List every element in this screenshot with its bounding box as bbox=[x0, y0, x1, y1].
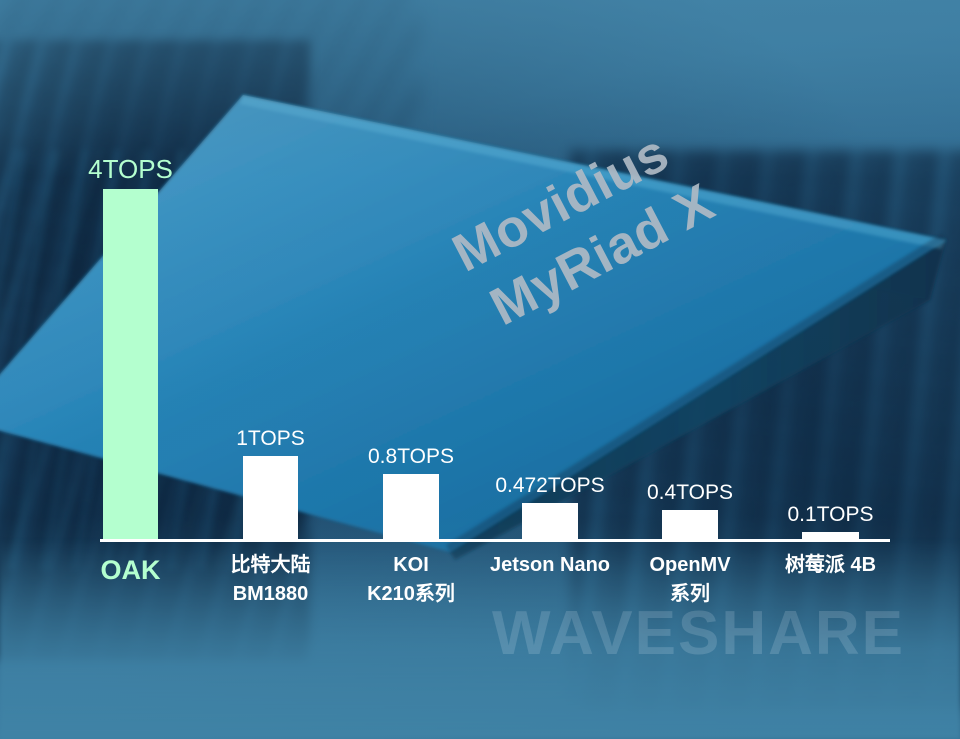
bar-oak bbox=[103, 189, 158, 539]
bar-koi-k210 bbox=[383, 474, 439, 539]
bar-raspberry-pi-4b bbox=[802, 532, 859, 539]
category-label-line: 树莓派 4B bbox=[721, 551, 941, 580]
bar-jetson-nano bbox=[522, 503, 578, 539]
value-label-koi-k210: 0.8TOPS bbox=[301, 445, 521, 469]
value-label-oak: 4TOPS bbox=[21, 154, 241, 185]
category-label-line: 系列 bbox=[580, 580, 800, 609]
category-label-raspberry-pi-4b: 树莓派 4B bbox=[721, 551, 941, 580]
value-label-openmv: 0.4TOPS bbox=[580, 481, 800, 505]
bar-chart: 4TOPSOAK1TOPS比特大陆BM18800.8TOPSKOIK210系列0… bbox=[0, 0, 960, 739]
chart-baseline-axis bbox=[100, 539, 890, 542]
bar-bitmain-bm1880 bbox=[243, 456, 298, 539]
infographic-canvas: Movidius MyRiad X WAVESHARE 4TOPSOAK1TOP… bbox=[0, 0, 960, 739]
category-label-line: K210系列 bbox=[301, 580, 521, 609]
value-label-raspberry-pi-4b: 0.1TOPS bbox=[721, 503, 941, 527]
bar-openmv bbox=[662, 510, 718, 539]
